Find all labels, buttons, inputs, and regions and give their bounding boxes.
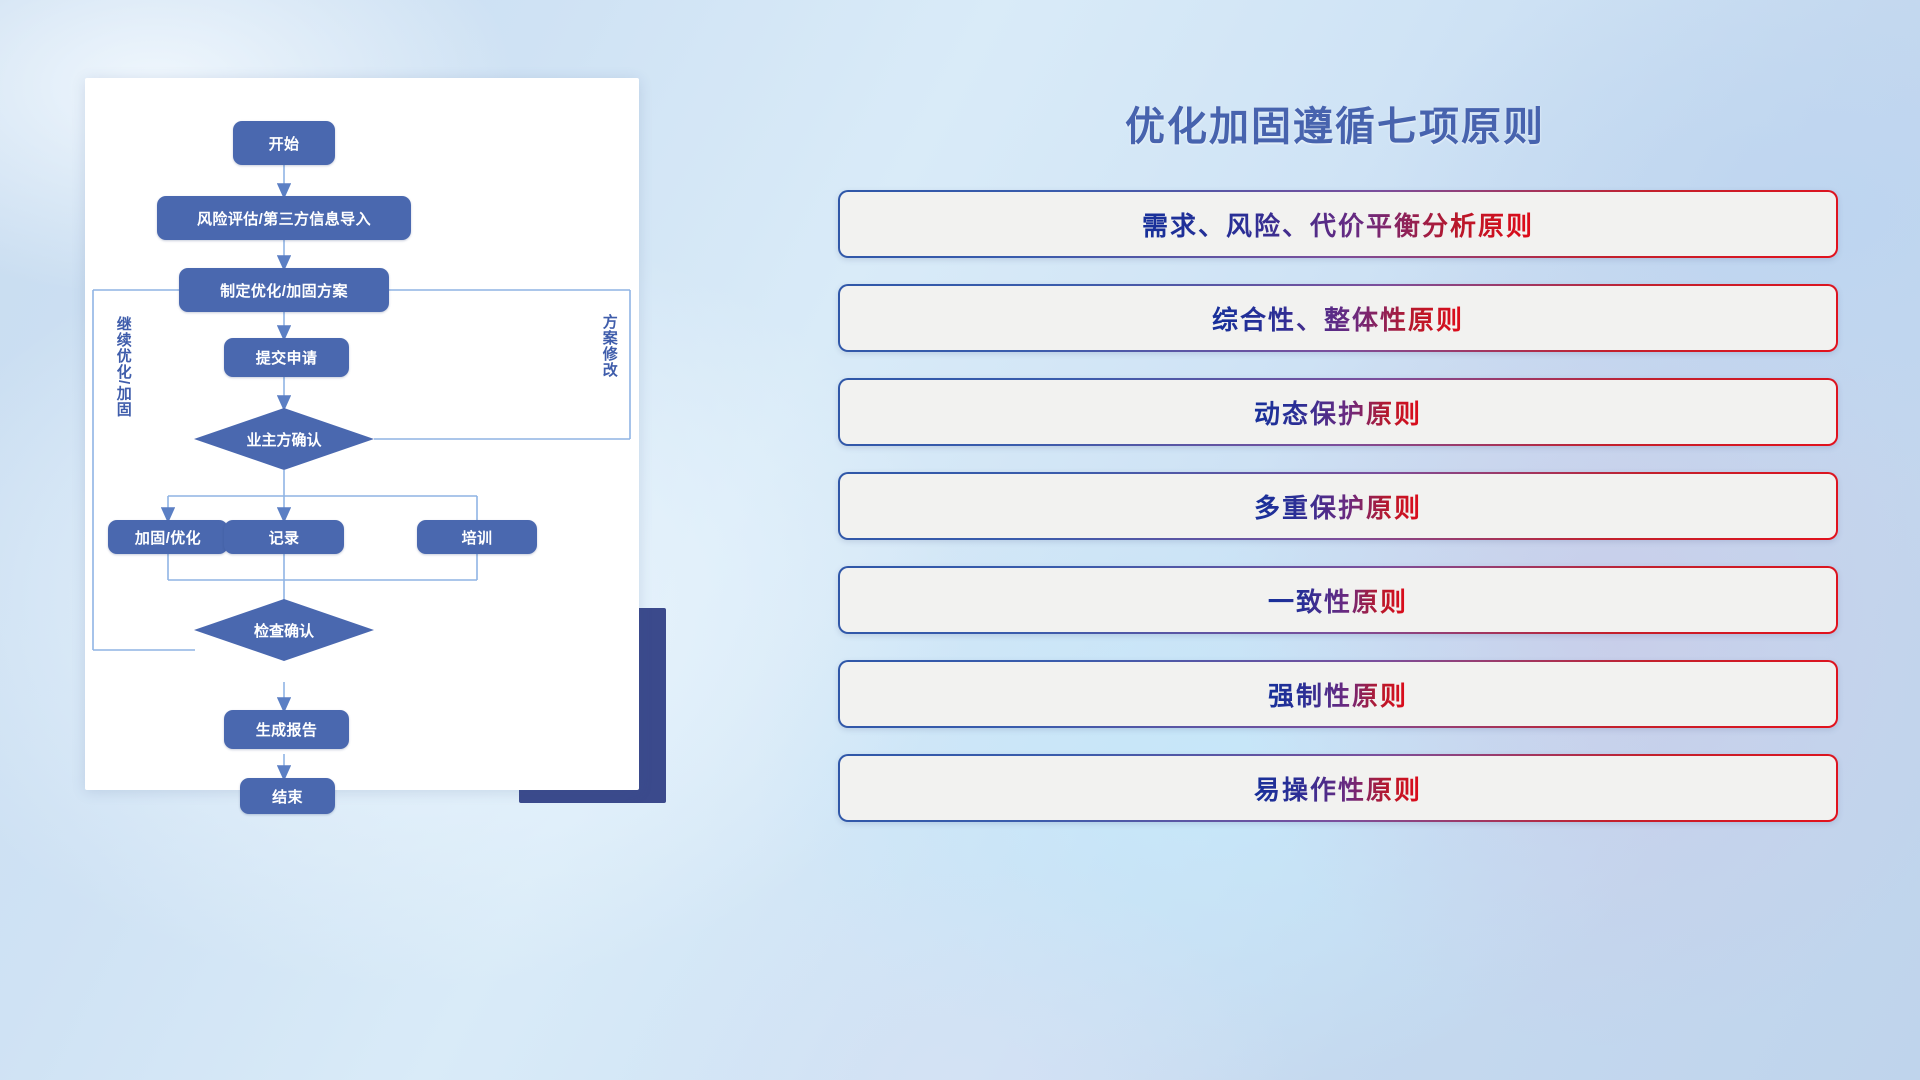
flow-node-label: 检查确认 — [254, 620, 314, 641]
flow-node-submit[interactable]: 提交申请 — [224, 338, 349, 377]
flow-node-label: 记录 — [269, 527, 300, 548]
principle-card-label: 动态保护原则 — [1254, 394, 1422, 431]
flow-node-label: 制定优化/加固方案 — [220, 280, 348, 301]
flow-edge-label-continue-optimize: 继续优化/加固 — [115, 316, 131, 417]
principle-card[interactable]: 综合性、整体性原则 — [838, 284, 1838, 352]
flow-node-label: 培训 — [462, 527, 493, 548]
flow-node-owner-confirm[interactable]: 业主方确认 — [194, 408, 374, 470]
page-title: 优化加固遵循七项原则 — [940, 94, 1730, 152]
flow-node-label: 加固/优化 — [135, 527, 201, 548]
flow-node-inspection-confirm[interactable]: 检查确认 — [194, 599, 374, 661]
principle-card-list: 需求、风险、代价平衡分析原则 综合性、整体性原则 动态保护原则 多重保护原则 一… — [838, 190, 1838, 848]
principle-card-body: 强制性原则 — [840, 662, 1836, 726]
flow-node-risk-assessment[interactable]: 风险评估/第三方信息导入 — [157, 196, 411, 240]
flow-node-label: 业主方确认 — [246, 429, 321, 450]
flow-node-generate-report[interactable]: 生成报告 — [224, 710, 349, 749]
flow-node-plan[interactable]: 制定优化/加固方案 — [179, 268, 389, 312]
flow-node-start[interactable]: 开始 — [233, 121, 335, 165]
flow-node-label: 结束 — [272, 786, 303, 807]
principle-card[interactable]: 需求、风险、代价平衡分析原则 — [838, 190, 1838, 258]
principle-card-body: 综合性、整体性原则 — [840, 286, 1836, 350]
principle-card[interactable]: 强制性原则 — [838, 660, 1838, 728]
principle-card[interactable]: 一致性原则 — [838, 566, 1838, 634]
principle-card-label: 一致性原则 — [1268, 582, 1408, 619]
principle-card[interactable]: 易操作性原则 — [838, 754, 1838, 822]
principle-card-label: 多重保护原则 — [1254, 488, 1422, 525]
principle-card-body: 需求、风险、代价平衡分析原则 — [840, 192, 1836, 256]
flow-node-label: 开始 — [269, 133, 300, 154]
principle-card-body: 一致性原则 — [840, 568, 1836, 632]
flow-node-reinforce[interactable]: 加固/优化 — [108, 520, 228, 554]
principle-card-body: 多重保护原则 — [840, 474, 1836, 538]
flow-node-training[interactable]: 培训 — [417, 520, 537, 554]
principle-card-label: 综合性、整体性原则 — [1212, 300, 1464, 337]
flowchart-panel: 开始 风险评估/第三方信息导入 制定优化/加固方案 提交申请 业主方确认 加固/… — [85, 78, 639, 790]
principle-card-label: 强制性原则 — [1268, 676, 1408, 713]
principle-card-label: 易操作性原则 — [1254, 770, 1422, 807]
principle-card-body: 动态保护原则 — [840, 380, 1836, 444]
principle-card[interactable]: 多重保护原则 — [838, 472, 1838, 540]
flow-node-record[interactable]: 记录 — [224, 520, 344, 554]
flow-node-label: 生成报告 — [256, 719, 318, 740]
flow-edge-label-plan-revision: 方案修改 — [601, 314, 617, 378]
flow-node-label: 提交申请 — [256, 347, 318, 368]
principle-card[interactable]: 动态保护原则 — [838, 378, 1838, 446]
flow-node-end[interactable]: 结束 — [240, 778, 335, 814]
principle-card-label: 需求、风险、代价平衡分析原则 — [1142, 206, 1534, 243]
principle-card-body: 易操作性原则 — [840, 756, 1836, 820]
principles-panel: 优化加固遵循七项原则 需求、风险、代价平衡分析原则 综合性、整体性原则 动态保护… — [830, 70, 1840, 860]
flow-node-label: 风险评估/第三方信息导入 — [197, 208, 371, 229]
